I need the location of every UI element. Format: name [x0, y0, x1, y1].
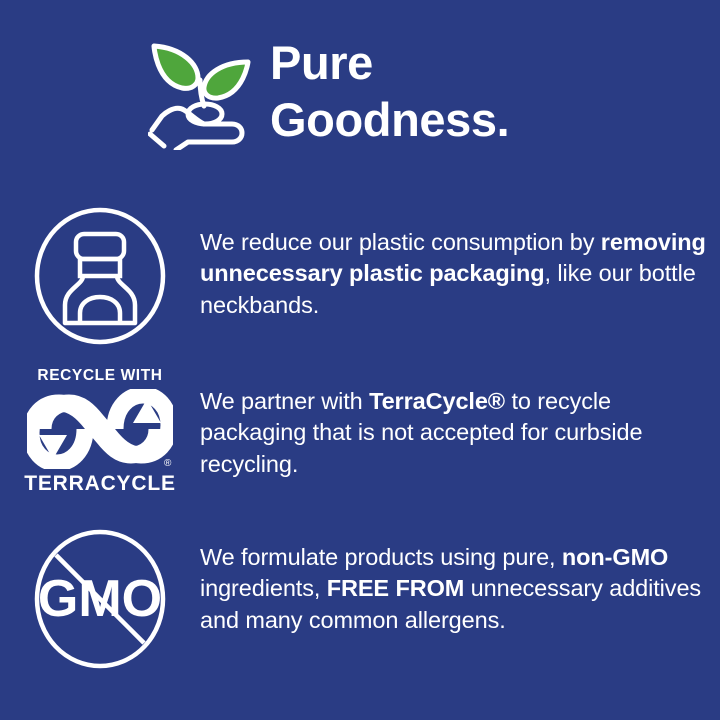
gmo-label: GMO	[38, 570, 162, 628]
row-icon-container	[0, 205, 200, 347]
row-icon-container: GMO	[0, 528, 200, 670]
feature-row-plastic-reduction: We reduce our plastic consumption by rem…	[0, 205, 720, 347]
terracycle-infinity-icon: ®	[27, 389, 173, 469]
terracycle-logo: RECYCLE WITH ® TERRACYCLE	[27, 368, 173, 494]
feature-text-plastic-reduction: We reduce our plastic consumption by rem…	[200, 205, 720, 321]
body-text: ingredients,	[200, 575, 327, 601]
bottle-in-circle-icon	[31, 205, 169, 347]
body-text: We partner with	[200, 388, 369, 414]
terracycle-bottom-label: TERRACYCLE	[24, 473, 176, 494]
body-text: We reduce our plastic consumption by	[200, 229, 601, 255]
pure-goodness-infographic: Pure Goodness. We reduce our plastic con…	[0, 0, 720, 720]
feature-text-non-gmo: We formulate products using pure, non-GM…	[200, 528, 720, 636]
feature-text-terracycle: We partner with TerraCycle® to recycle p…	[200, 368, 720, 480]
emphasised-text: TerraCycle®	[369, 388, 505, 414]
registered-mark-glyph: ®	[164, 458, 172, 469]
feature-row-non-gmo: GMO We formulate products using pure, no…	[0, 528, 720, 670]
feature-row-terracycle: RECYCLE WITH ® TERRACYCLE We partner wit…	[0, 368, 720, 494]
body-text: We formulate products using pure,	[200, 544, 562, 570]
header: Pure Goodness.	[148, 34, 618, 164]
emphasised-text: FREE FROM	[327, 575, 464, 601]
page-title: Pure Goodness.	[270, 34, 509, 149]
hand-holding-sprout-icon	[148, 38, 256, 150]
no-gmo-icon: GMO	[30, 528, 170, 670]
emphasised-text: non-GMO	[562, 544, 668, 570]
row-icon-container: RECYCLE WITH ® TERRACYCLE	[0, 368, 200, 494]
terracycle-top-label: RECYCLE WITH	[37, 368, 162, 384]
